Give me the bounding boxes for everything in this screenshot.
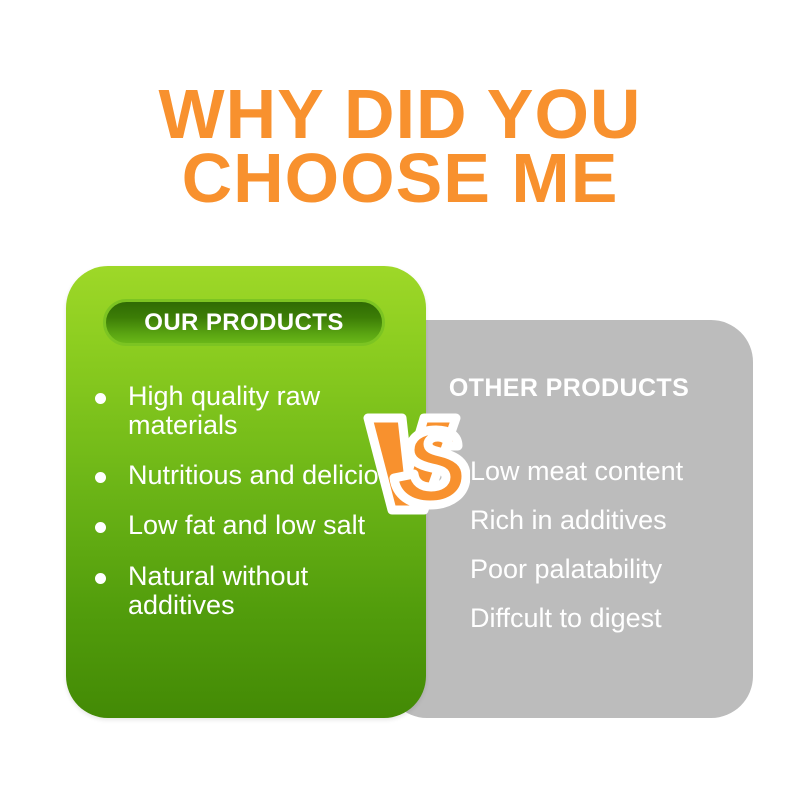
vs-badge-icon (358, 410, 470, 515)
list-item-label: Low fat and low salt (128, 510, 365, 540)
page-title: WHY DID YOU CHOOSE ME (0, 82, 800, 211)
other-products-heading: OTHER PRODUCTS (385, 374, 753, 403)
list-item: Poor palatability (470, 556, 750, 583)
list-item: Diffcult to digest (470, 605, 750, 632)
our-products-heading: OUR PRODUCTS (144, 309, 343, 337)
other-products-list: Low meat content Rich in additives Poor … (470, 458, 750, 654)
page-title-line-2: CHOOSE ME (0, 146, 800, 210)
bullet-icon (95, 522, 106, 533)
list-item: Rich in additives (470, 507, 750, 534)
list-item: Low fat and low salt (88, 511, 418, 540)
bullet-icon (95, 472, 106, 483)
other-products-card: OTHER PRODUCTS Low meat content Rich in … (385, 320, 753, 718)
bullet-icon (95, 573, 106, 584)
page-title-line-1: WHY DID YOU (0, 82, 800, 146)
list-item: Low meat content (470, 458, 750, 485)
list-item: Natural without additives (88, 562, 418, 620)
list-item-label: Natural without additives (128, 561, 308, 620)
bullet-icon (95, 393, 106, 404)
our-products-heading-pill: OUR PRODUCTS (103, 299, 385, 346)
infographic-page: WHY DID YOU CHOOSE ME OTHER PRODUCTS Low… (0, 0, 800, 800)
list-item-label: High quality raw materials (128, 381, 320, 440)
